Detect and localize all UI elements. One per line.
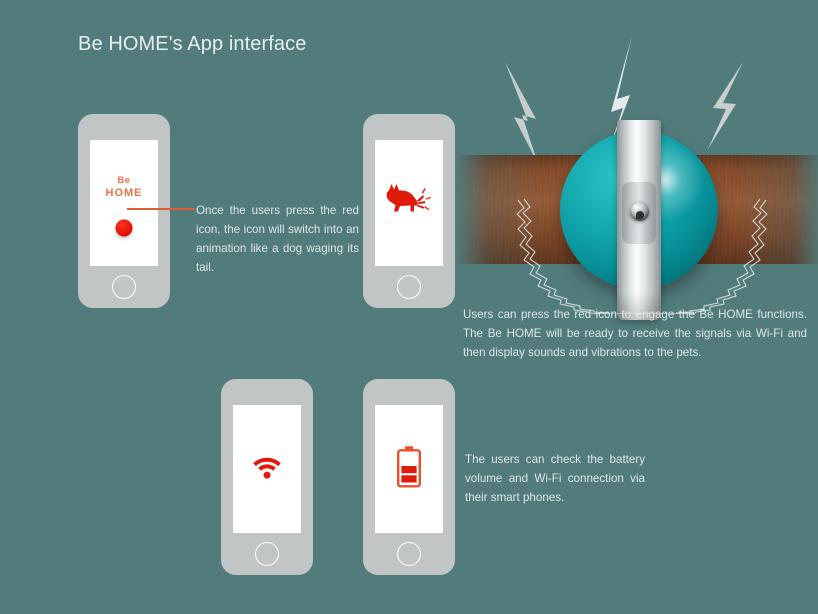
callout-connector-line xyxy=(127,208,195,210)
red-record-button[interactable] xyxy=(116,220,133,237)
battery-icon xyxy=(396,446,422,493)
phone-speaker xyxy=(113,127,135,130)
phone-home-button[interactable] xyxy=(397,275,421,299)
wifi-icon xyxy=(252,454,282,485)
device-description-text: Users can press the red icon to engage t… xyxy=(463,305,807,362)
vibration-waves-icon xyxy=(508,194,776,314)
callout-text-1: Once the users press the red icon, the i… xyxy=(196,201,359,277)
phone-screen-wifi xyxy=(233,405,301,533)
phone-mockup-splash: Be HOME xyxy=(78,114,170,308)
phone-mockup-dog xyxy=(363,114,455,308)
phone-speaker xyxy=(398,127,420,130)
phone-speaker xyxy=(256,392,278,395)
be-home-logo: Be HOME xyxy=(90,174,158,200)
poster-canvas: Be HOME's App interface Be HOME Once the… xyxy=(0,0,818,614)
status-description-text: The users can check the battery volume a… xyxy=(465,450,645,507)
phone-screen-splash: Be HOME xyxy=(90,140,158,266)
logo-line-1: Be xyxy=(117,175,130,186)
phone-home-button[interactable] xyxy=(255,542,279,566)
phone-home-button[interactable] xyxy=(397,542,421,566)
page-title: Be HOME's App interface xyxy=(78,33,306,56)
phone-mockup-battery xyxy=(363,379,455,575)
phone-screen-battery xyxy=(375,405,443,533)
be-home-device-illustration xyxy=(460,24,818,314)
logo-line-2: HOME xyxy=(90,187,158,200)
phone-home-button[interactable] xyxy=(112,275,136,299)
phone-screen-dog xyxy=(375,140,443,266)
phone-mockup-wifi xyxy=(221,379,313,575)
dog-wagging-tail-icon xyxy=(383,181,435,226)
phone-speaker xyxy=(398,392,420,395)
